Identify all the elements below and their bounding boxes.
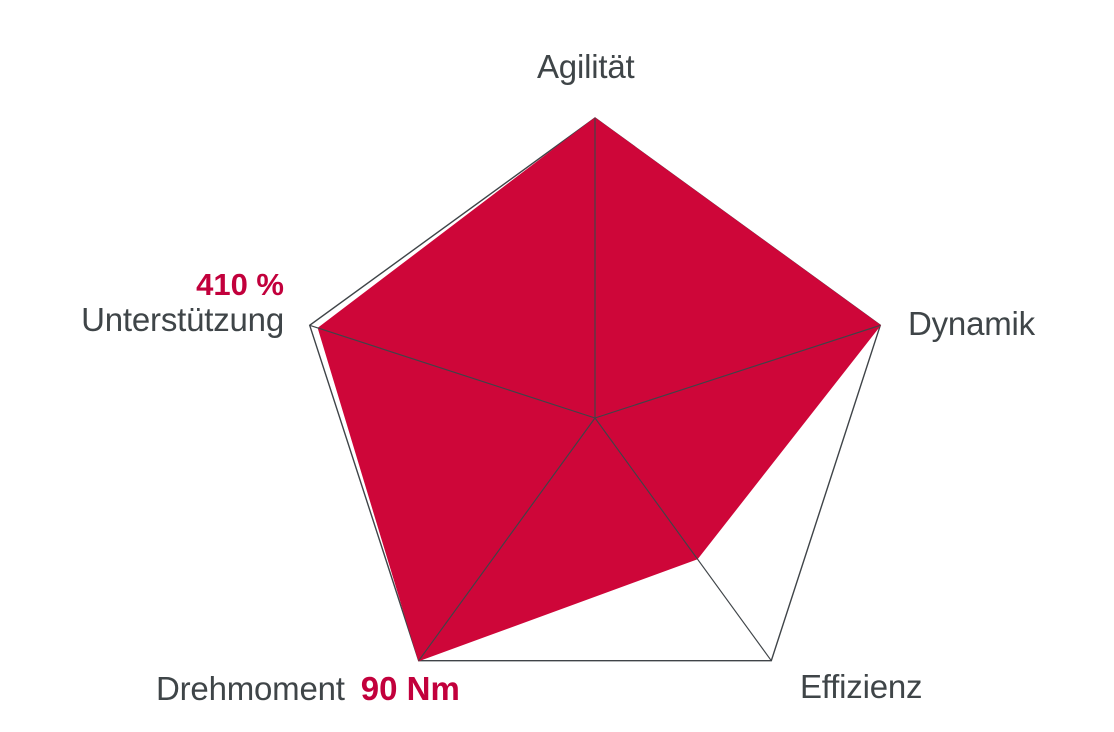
axis-label-agilitaet: Agilität [537, 50, 634, 85]
axis-label-effizienz: Effizienz [800, 670, 922, 705]
radar-chart-svg [0, 0, 1114, 732]
radar-chart: Agilität Dynamik Effizienz Drehmoment 90… [0, 0, 1114, 732]
value-drehmoment: 90 Nm [361, 670, 460, 708]
axis-label-unterstuetzung: Unterstützung [22, 303, 284, 338]
value-unterstuetzung: 410 % [22, 268, 284, 303]
axis-label-drehmoment: Drehmoment [156, 672, 345, 707]
axis-group-drehmoment: Drehmoment 90 Nm [156, 670, 460, 708]
axis-label-dynamik: Dynamik [908, 307, 1035, 342]
data-polygon [318, 118, 880, 661]
axis-group-unterstuetzung: 410 % Unterstützung [22, 268, 284, 337]
